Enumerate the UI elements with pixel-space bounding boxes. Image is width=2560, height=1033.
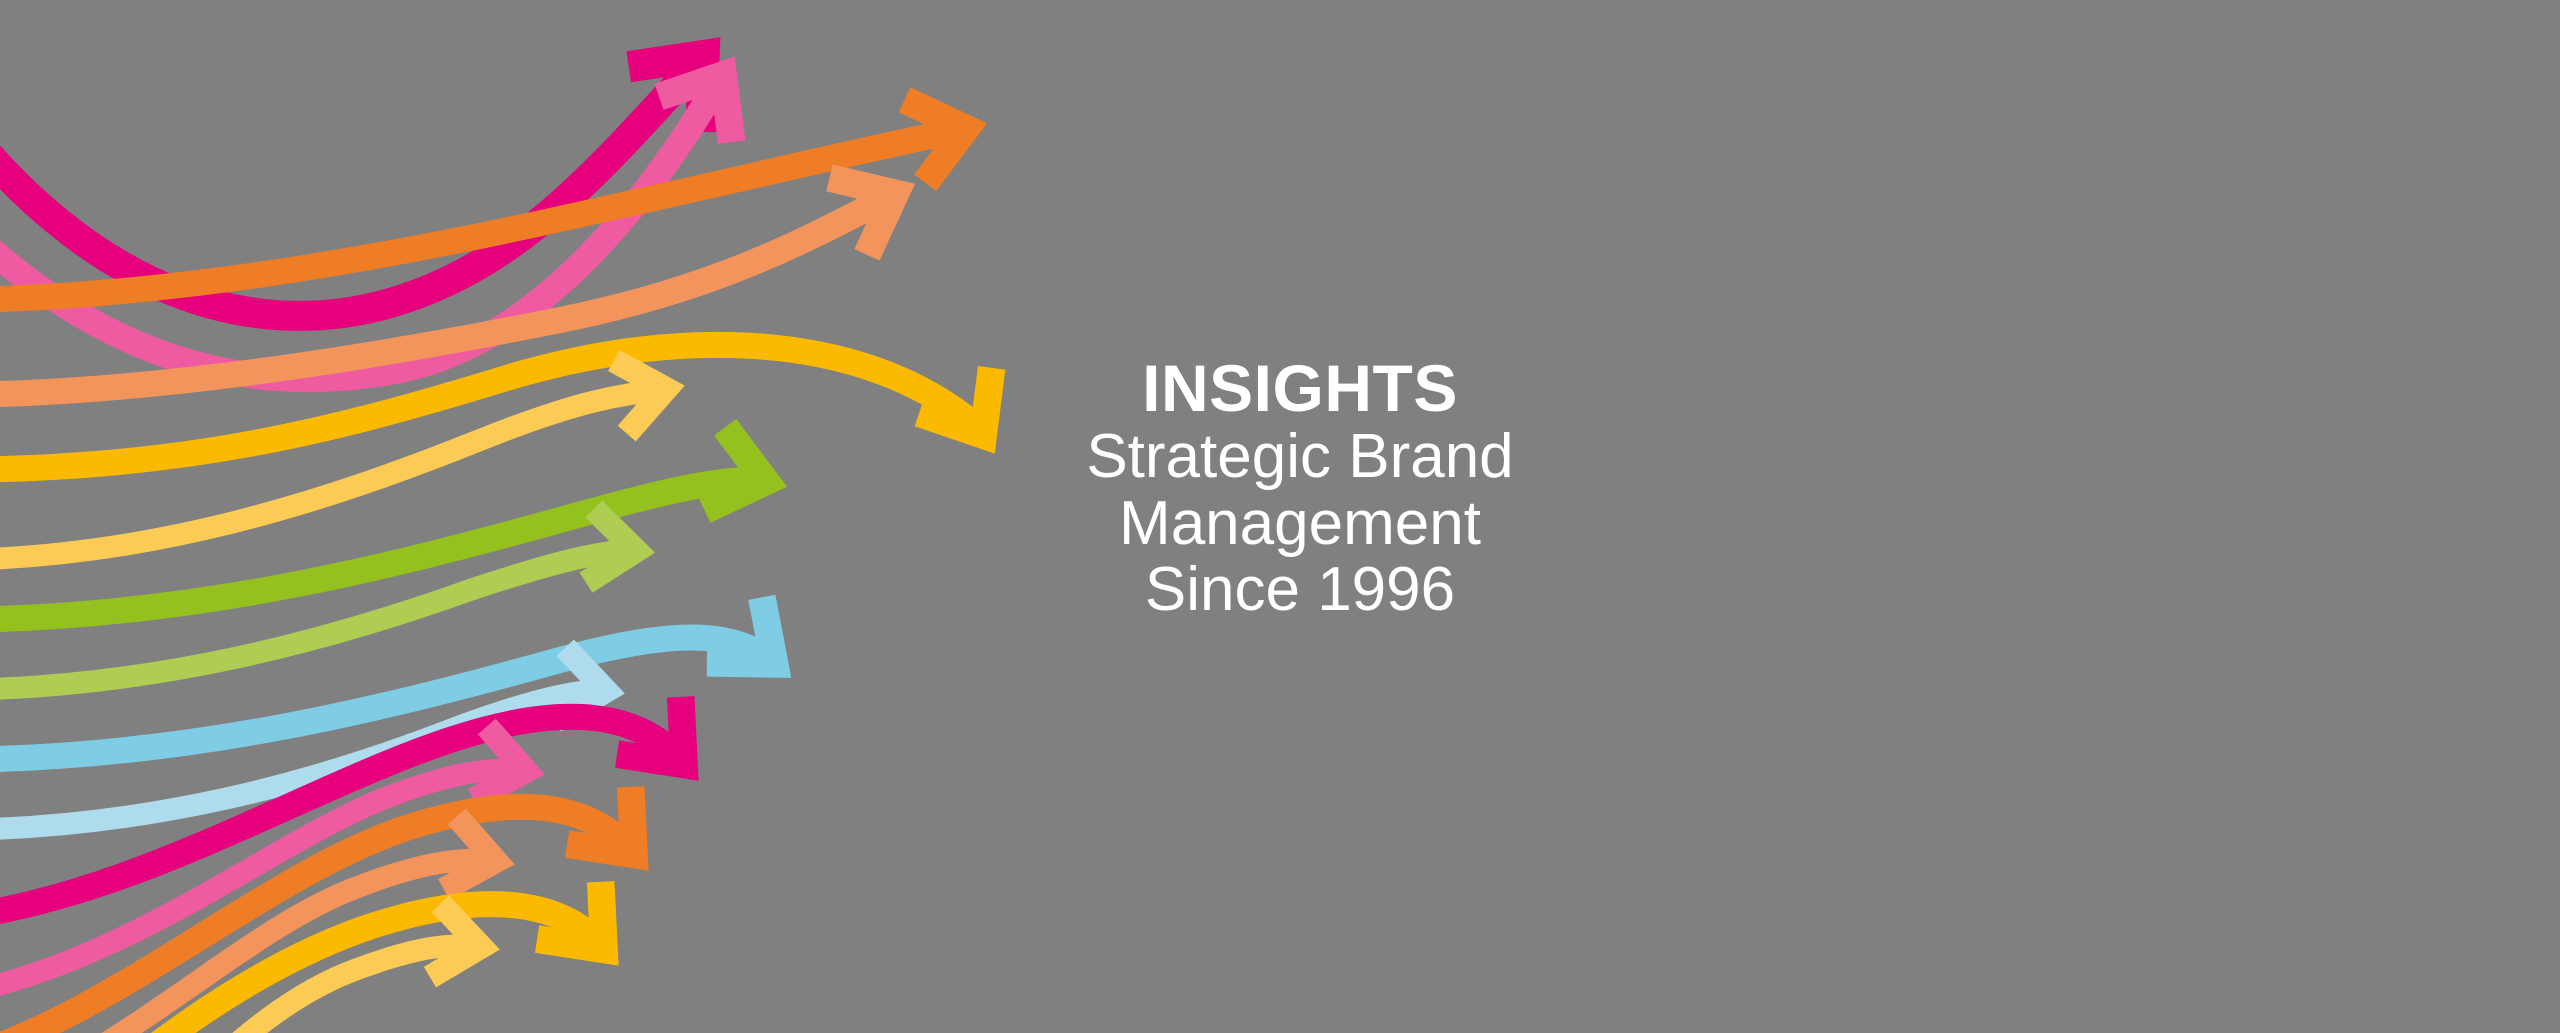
- brand-tagline-line-2: Management: [1040, 491, 1560, 557]
- brand-tagline-line-1: Strategic Brand: [1040, 424, 1560, 490]
- brand-since-line: Since 1996: [1040, 557, 1560, 623]
- insights-brand-banner: INSIGHTS Strategic Brand Management Sinc…: [0, 0, 2560, 1033]
- brand-text-block: INSIGHTS Strategic Brand Management Sinc…: [1040, 355, 1560, 623]
- page-title: INSIGHTS: [1040, 355, 1560, 422]
